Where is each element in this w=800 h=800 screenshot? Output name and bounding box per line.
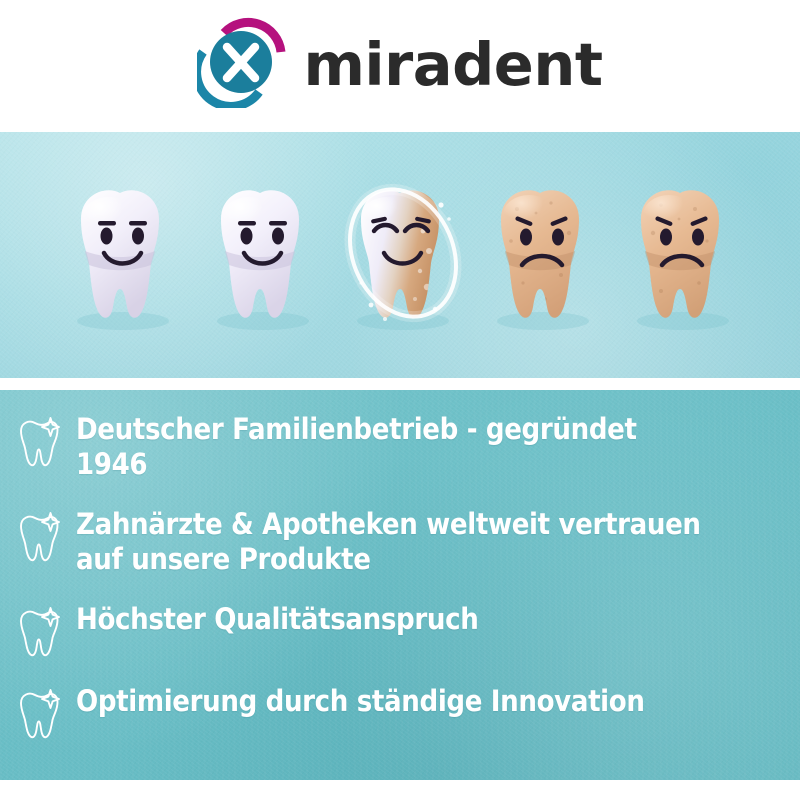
feature-text: Höchster Qualitätsanspruch [76, 602, 478, 637]
tooth-clean-happy-2 [201, 179, 319, 331]
footer-strip [0, 780, 800, 800]
tooth-sparkle-icon [16, 416, 62, 468]
feature-text: Optimierung durch ständige Innovation [76, 684, 645, 719]
feature-item-innovation: Optimierung durch ständige Innovation [16, 684, 774, 740]
feature-text: Zahnärzte & Apotheken weltweit vertrauen… [76, 507, 701, 576]
tooth-sparkle-icon [16, 688, 62, 740]
tooth-clean-happy-1 [61, 179, 179, 331]
feature-item-trust: Zahnärzte & Apotheken weltweit vertrauen… [16, 507, 774, 576]
hero-teeth-photo [0, 132, 800, 378]
logo-lockup[interactable]: miradent [197, 16, 602, 108]
teeth-row [0, 132, 800, 378]
feature-item-heritage: Deutscher Familienbetrieb - gegründet 19… [16, 412, 774, 481]
tooth-stained-sad-1 [481, 179, 599, 331]
miradent-x-circle-logo-icon [197, 16, 289, 108]
brand-wordmark: miradent [303, 35, 602, 94]
section-separator [0, 378, 800, 390]
feature-list: Deutscher Familienbetrieb - gegründet 19… [0, 390, 800, 780]
brand-header: miradent [0, 0, 800, 132]
tooth-sparkle-icon [16, 606, 62, 658]
feature-item-quality: Höchster Qualitätsanspruch [16, 602, 774, 658]
features-panel: Deutscher Familienbetrieb - gegründet 19… [0, 390, 800, 780]
feature-text: Deutscher Familienbetrieb - gegründet 19… [76, 412, 704, 481]
tooth-sparkle-icon [16, 511, 62, 563]
tooth-stained-sad-2 [621, 179, 739, 331]
tooth-cleaning-sparkle [341, 179, 459, 331]
